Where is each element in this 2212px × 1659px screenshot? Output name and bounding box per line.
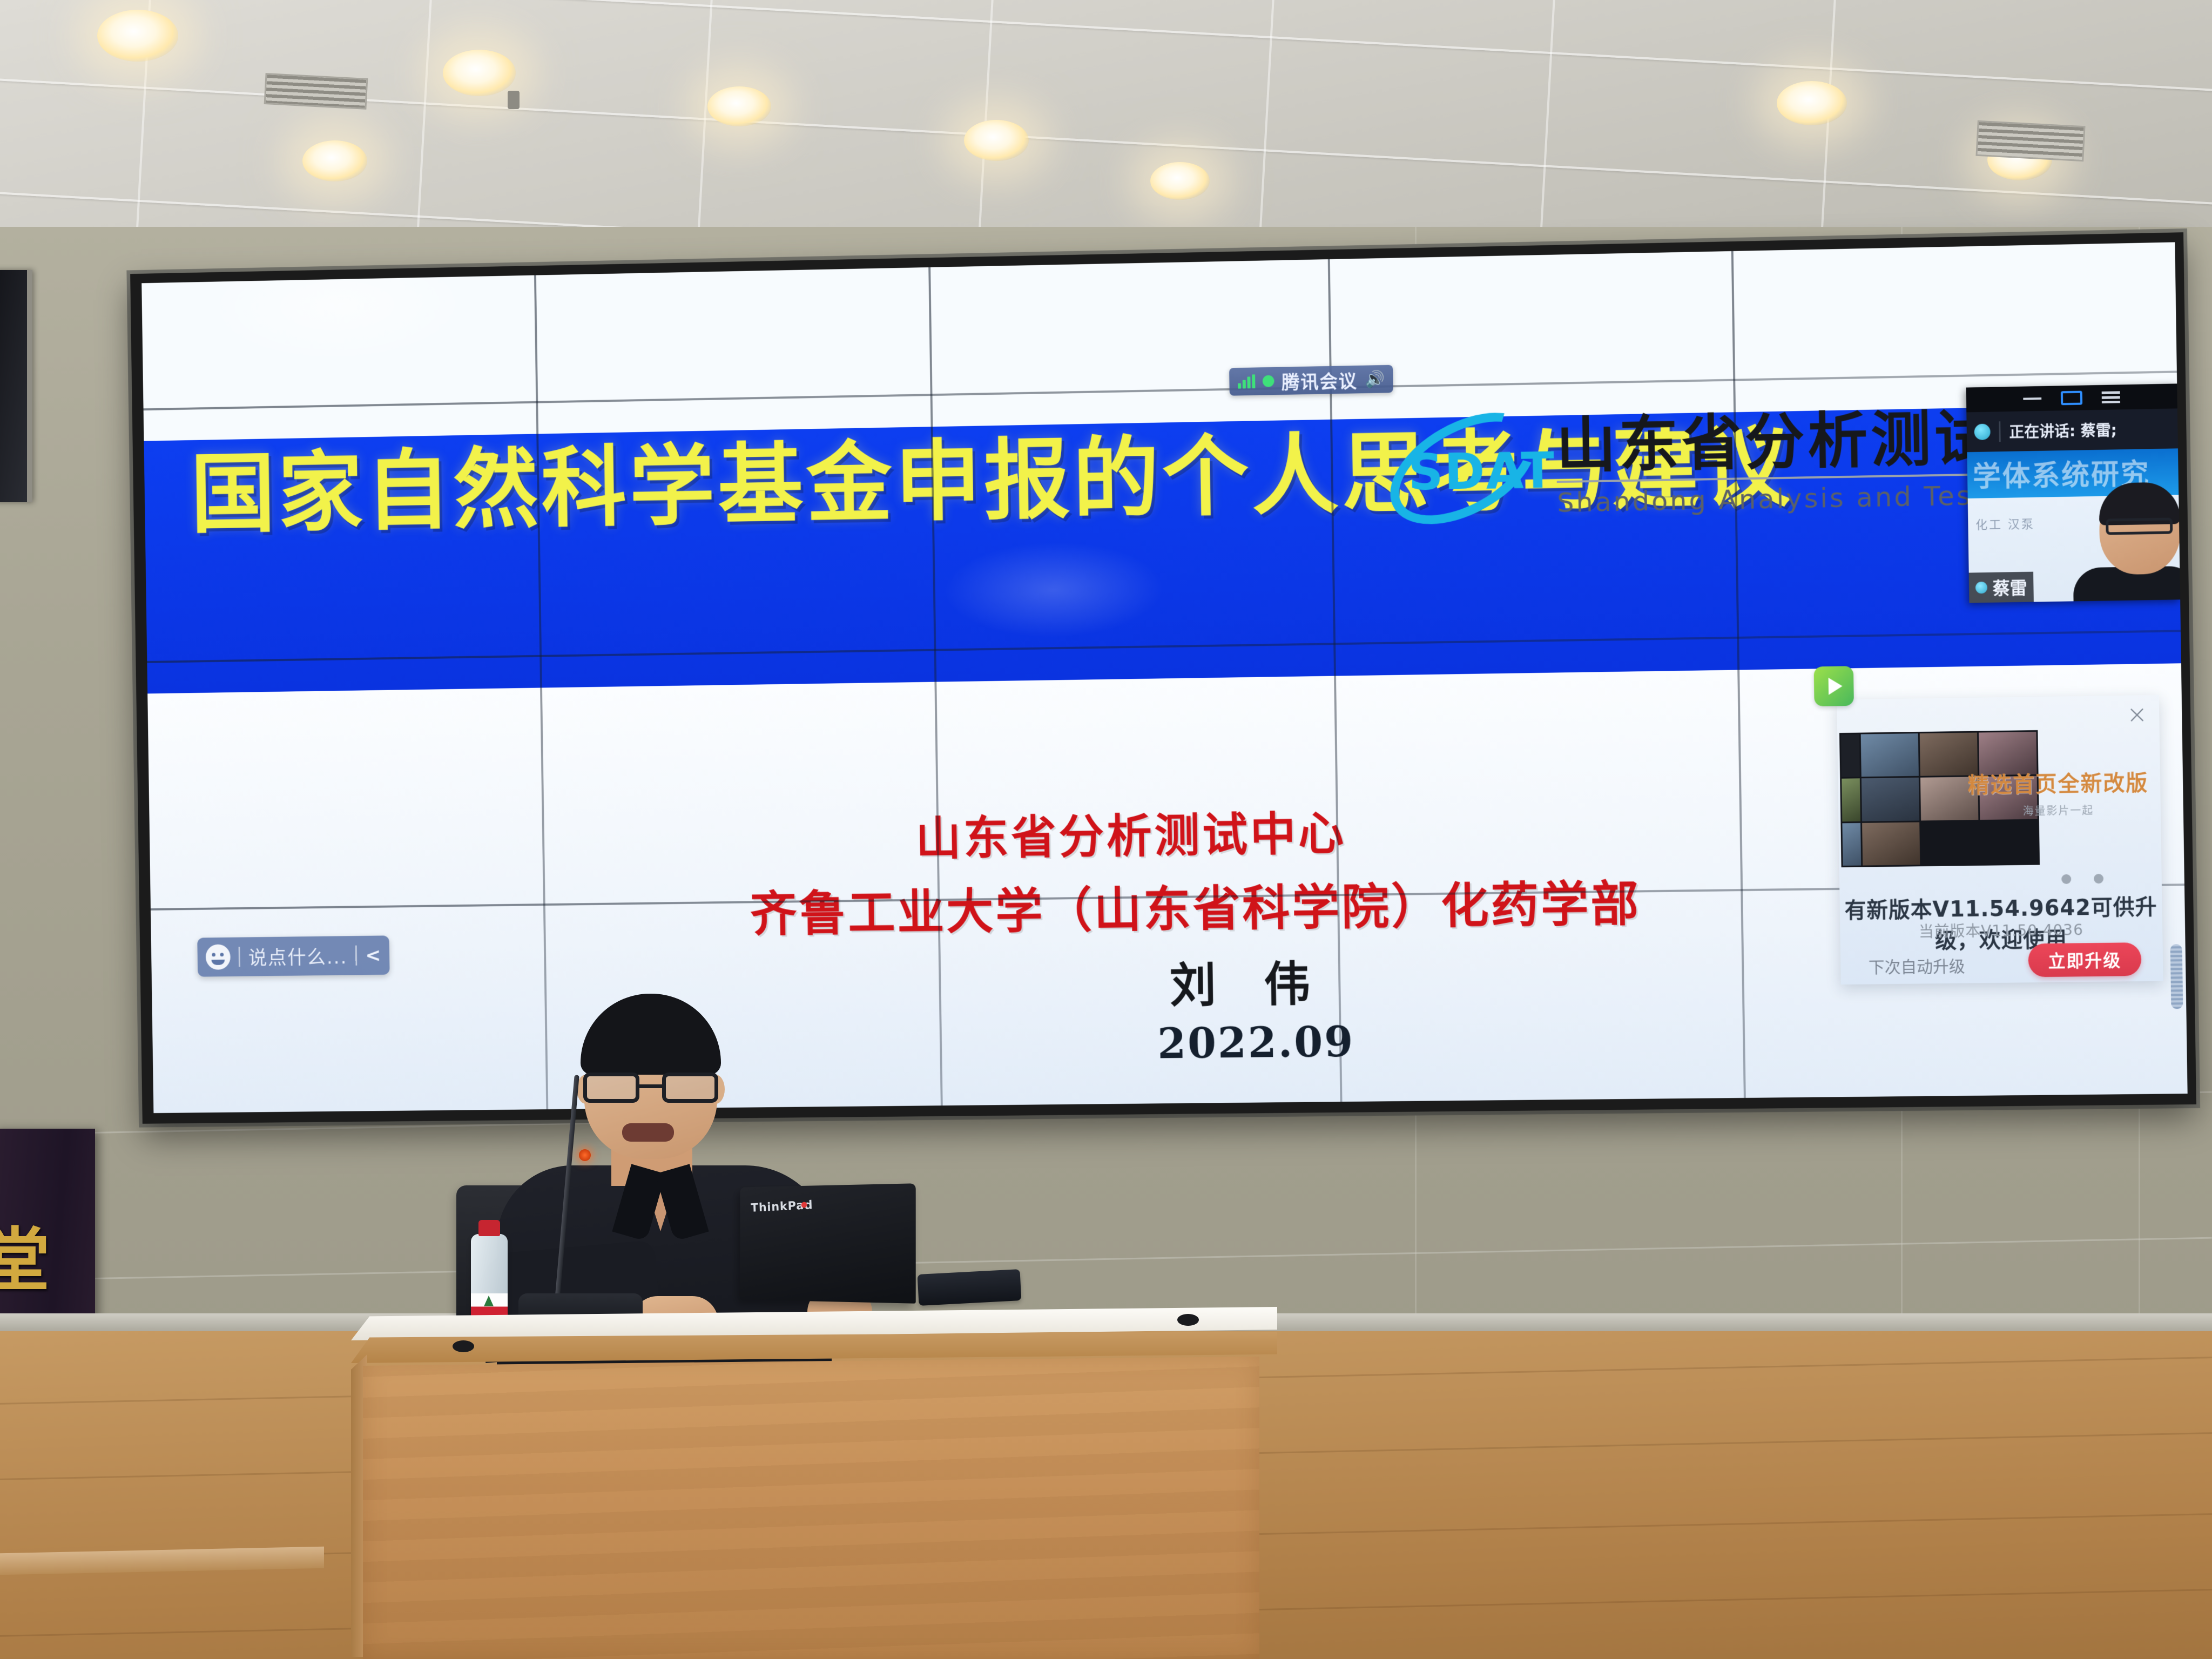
ceiling-downlight — [964, 120, 1029, 161]
desk-cable-grommet — [453, 1340, 474, 1352]
promo-title: 精选首页全新改版 — [1967, 765, 2149, 799]
ceiling-air-vent — [264, 73, 368, 110]
desk-cable-grommet — [1177, 1314, 1199, 1326]
presenter-desk — [351, 1307, 1277, 1659]
current-version-text: 当前版本V11.50.4036 — [1840, 918, 2162, 943]
sprinkler-head — [508, 91, 520, 109]
affiliation-line-2: 齐鲁工业大学（山东省科学院）化药学部 — [750, 865, 1641, 945]
restore-window-icon[interactable] — [2061, 391, 2082, 406]
upgrade-now-button[interactable]: 立即升级 — [2028, 942, 2141, 977]
conference-room-photo: 堂 SDAT — [0, 0, 2212, 1659]
side-wall-monitor — [0, 270, 32, 502]
ceiling-downlight — [707, 86, 771, 126]
update-notification-popup[interactable]: × 精选首页全新改版 海量影片一起 有新版本V11.54.9642可供升级，欢迎… — [1837, 695, 2163, 984]
carousel-dots[interactable] — [2061, 874, 2103, 884]
plaque-glyph: 堂 — [0, 1204, 50, 1304]
eyeglasses — [583, 1073, 718, 1103]
tencent-meeting-badge[interactable]: 腾讯会议 🔊 — [1229, 365, 1393, 396]
green-status-dot — [1263, 375, 1274, 387]
speaker-icon[interactable]: 🔊 — [1365, 369, 1385, 388]
microphone-icon — [1974, 424, 1991, 440]
menu-icon[interactable] — [2102, 391, 2120, 403]
participant-name-badge: 蔡雷 — [1969, 572, 2034, 603]
comment-input-bar[interactable]: 说点什么... < — [197, 935, 389, 976]
ceiling-downlight — [302, 140, 367, 181]
affiliation-line-1: 山东省分析测试中心 — [915, 796, 1347, 868]
minimize-icon[interactable] — [2023, 397, 2041, 400]
promo-subtitle: 海量影片一起 — [1968, 801, 2149, 819]
ceiling-downlight — [1777, 81, 1847, 125]
speaking-status-bar: 正在讲话: 蔡雷; — [1966, 408, 2178, 452]
ceiling-air-vent — [1975, 120, 2085, 161]
participant-video-tile[interactable]: 正在讲话: 蔡雷; 学体系统研究 化工 汉泵 蔡雷 — [1966, 383, 2180, 603]
sdat-logo-icon: SDAT — [1383, 421, 1543, 515]
video-window-titlebar[interactable] — [1966, 383, 2177, 412]
upgrade-later-button[interactable]: 下次自动升级 — [1869, 953, 1965, 978]
laptop-computer[interactable]: ThinkPad — [740, 1183, 915, 1304]
presenter-name: 刘 伟 — [1169, 946, 1326, 1015]
divider — [239, 947, 240, 967]
signal-bars-icon — [1238, 374, 1256, 388]
divider — [355, 946, 357, 966]
smartphone[interactable] — [918, 1269, 1022, 1306]
video-player-logo — [1814, 666, 1854, 706]
smiley-face-icon[interactable] — [206, 945, 231, 970]
sdat-logo-text: SDAT — [1408, 442, 1556, 502]
participant-video-feed: 学体系统研究 化工 汉泵 蔡雷 — [1967, 448, 2180, 603]
ceiling-downlight — [97, 10, 178, 62]
meeting-app-label: 腾讯会议 — [1282, 366, 1358, 394]
microphone-indicator-led — [579, 1149, 591, 1161]
video-wall-screen: SDAT 山东省分析测试中心 Shandong Analysis and Tes… — [141, 242, 2187, 1113]
video-wall-display[interactable]: SDAT 山东省分析测试中心 Shandong Analysis and Tes… — [130, 232, 2196, 1124]
participant-name: 蔡雷 — [1993, 575, 2027, 600]
promo-text: 精选首页全新改版 海量影片一起 — [1967, 765, 2149, 819]
divider — [1999, 421, 2001, 442]
ceiling-downlight — [443, 50, 516, 96]
speaking-label: 正在讲话: 蔡雷; — [2009, 419, 2117, 442]
close-icon[interactable]: × — [2127, 702, 2148, 727]
collapse-icon[interactable]: < — [365, 945, 381, 966]
slide-date: 2022.09 — [1157, 1017, 1355, 1068]
ceiling-downlight — [1150, 162, 1210, 200]
participant-avatar — [2075, 481, 2180, 603]
comment-placeholder[interactable]: 说点什么... — [248, 942, 348, 970]
microphone-icon — [1975, 582, 1987, 594]
slide-scrollbar[interactable] — [2170, 944, 2183, 1009]
